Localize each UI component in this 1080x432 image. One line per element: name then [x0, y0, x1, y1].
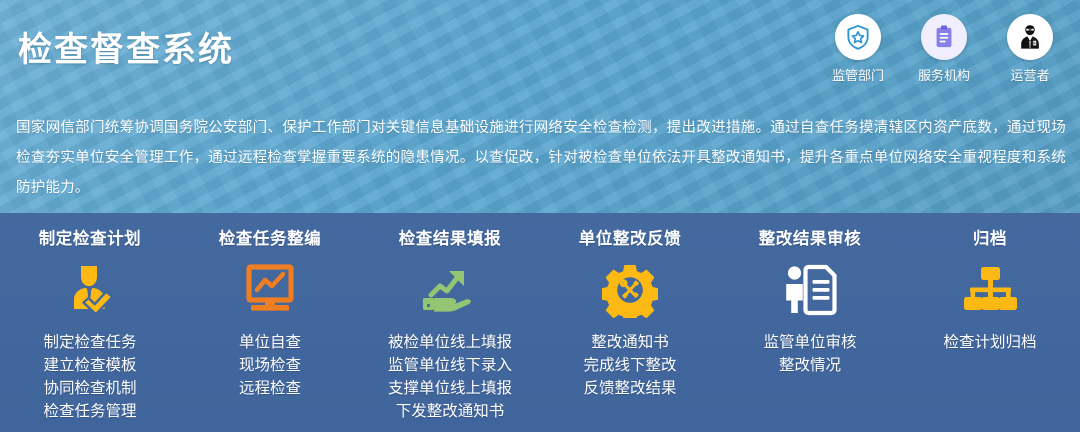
monitor-chart-icon: [240, 262, 300, 318]
role-item-operator[interactable]: 运营者: [994, 14, 1066, 84]
flow-column-lines: 整改通知书 完成线下整改 反馈整改结果: [583, 331, 676, 400]
flow-column-result-report: 检查结果填报 被检单位线上填报 监管单位线下录入 支撑单位线上填报 下发整改通知…: [360, 213, 540, 423]
flow-line: 制定检查任务: [43, 331, 136, 354]
person-check-icon: [60, 262, 120, 318]
flow-column-title: 检查任务整编: [219, 225, 322, 249]
person-document-icon: [781, 262, 839, 318]
flow-line: 建立检查模板: [43, 354, 136, 377]
flow-line: 整改情况: [779, 354, 841, 377]
page-title: 检查督查系统: [18, 22, 234, 71]
flow-line: 完成线下整改: [583, 354, 676, 377]
flow-column-review: 整改结果审核 监管单位审核 整改情况: [720, 213, 900, 377]
flow-column-lines: 制定检查任务 建立检查模板 协同检查机制 检查任务管理: [43, 331, 136, 423]
flow-column-unit-rectification: 单位整改反馈 整改通知书 完成线下整改 反馈整: [540, 213, 720, 400]
org-chart-icon: [961, 262, 1019, 318]
flow-column-title: 整改结果审核: [759, 225, 862, 249]
flow-line: 整改通知书: [591, 331, 669, 354]
flow-column-title: 归档: [973, 225, 1007, 249]
process-flow-section: 制定检查计划 制定检查任务 建立检查模板 协同检查机制 检查任务管理 检查任务整…: [0, 213, 1080, 432]
flow-column-lines: 监管单位审核 整改情况: [763, 331, 856, 377]
flow-line: 支撑单位线上填报: [388, 377, 512, 400]
gear-tools-icon: [602, 262, 658, 318]
role-item-service-org[interactable]: 服务机构: [908, 14, 980, 84]
flow-line: 下发整改通知书: [396, 400, 505, 423]
role-label: 监管部门: [832, 65, 884, 84]
flow-column-icon: [419, 259, 481, 321]
flow-column-icon: [961, 259, 1019, 321]
flow-line: 监管单位审核: [763, 331, 856, 354]
role-label: 运营者: [1010, 65, 1049, 84]
flow-column-title: 制定检查计划: [39, 225, 142, 249]
flow-column-lines: 检查计划归档: [943, 331, 1036, 354]
intro-paragraph: 国家网信部门统筹协调国务院公安部门、保护工作部门对关键信息基础设施进行网络安全检…: [16, 113, 1066, 203]
page-root: 检查督查系统 监管部门: [0, 0, 1080, 432]
flow-column-icon: [602, 259, 658, 321]
role-label: 服务机构: [918, 65, 970, 84]
flow-column-title: 单位整改反馈: [579, 225, 682, 249]
flow-column-icon: [60, 259, 120, 321]
flow-line: 监管单位线下录入: [388, 354, 512, 377]
header-banner: 检查督查系统 监管部门: [0, 0, 1080, 213]
flow-line: 现场检查: [239, 354, 301, 377]
flow-line: 反馈整改结果: [583, 377, 676, 400]
flow-column-task-compile: 检查任务整编 单位自查 现场检查 远程检查: [180, 213, 360, 400]
flow-column-archive: 归档 检查计划归档: [900, 213, 1080, 354]
flow-line: 检查计划归档: [943, 331, 1036, 354]
flow-line: 被检单位线上填报: [388, 331, 512, 354]
clipboard-icon: [930, 23, 958, 51]
role-icon-wrapper: [1007, 14, 1053, 60]
flow-line: 远程检查: [239, 377, 301, 400]
role-icon-wrapper: [921, 14, 967, 60]
flow-column-lines: 被检单位线上填报 监管单位线下录入 支撑单位线上填报 下发整改通知书: [388, 331, 512, 423]
flow-column-icon: [240, 259, 300, 321]
hand-growth-arrow-icon: [419, 262, 481, 318]
role-item-regulator[interactable]: 监管部门: [822, 14, 894, 84]
role-entry-bar: 监管部门 服务机构: [822, 14, 1066, 84]
role-icon-wrapper: [835, 14, 881, 60]
flow-column-icon: [781, 259, 839, 321]
flow-column-plan: 制定检查计划 制定检查任务 建立检查模板 协同检查机制 检查任务管理: [0, 213, 180, 423]
flow-line: 协同检查机制: [43, 377, 136, 400]
flow-column-title: 检查结果填报: [399, 225, 502, 249]
flow-line: 检查任务管理: [43, 400, 136, 423]
shield-star-icon: [844, 23, 872, 51]
operator-person-icon: [1015, 22, 1045, 52]
flow-line: 单位自查: [239, 331, 301, 354]
flow-column-lines: 单位自查 现场检查 远程检查: [239, 331, 301, 400]
